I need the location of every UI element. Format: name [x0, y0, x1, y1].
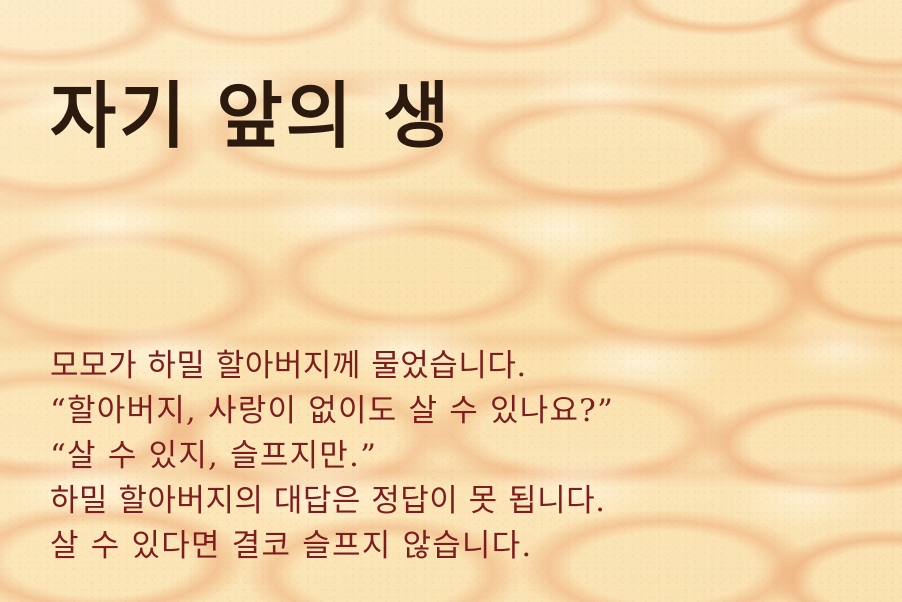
slide-title: 자기 앞의 생 — [50, 76, 452, 157]
quote-line-1: 모모가 하밀 할아버지께 물었습니다. — [50, 344, 880, 389]
slide-canvas: 자기 앞의 생 모모가 하밀 할아버지께 물었습니다. “할아버지, 사랑이 없… — [0, 0, 902, 602]
quote-line-5: 살 수 있다면 결코 슬프지 않습니다. — [50, 524, 880, 569]
quote-line-4: 하밀 할아버지의 대답은 정답이 못 됩니다. — [50, 479, 880, 524]
quote-line-2: “할아버지, 사랑이 없이도 살 수 있나요?” — [50, 389, 880, 434]
quote-text-block: 모모가 하밀 할아버지께 물었습니다. “할아버지, 사랑이 없이도 살 수 있… — [50, 344, 880, 569]
quote-line-3: “살 수 있지, 슬프지만.” — [50, 434, 880, 479]
